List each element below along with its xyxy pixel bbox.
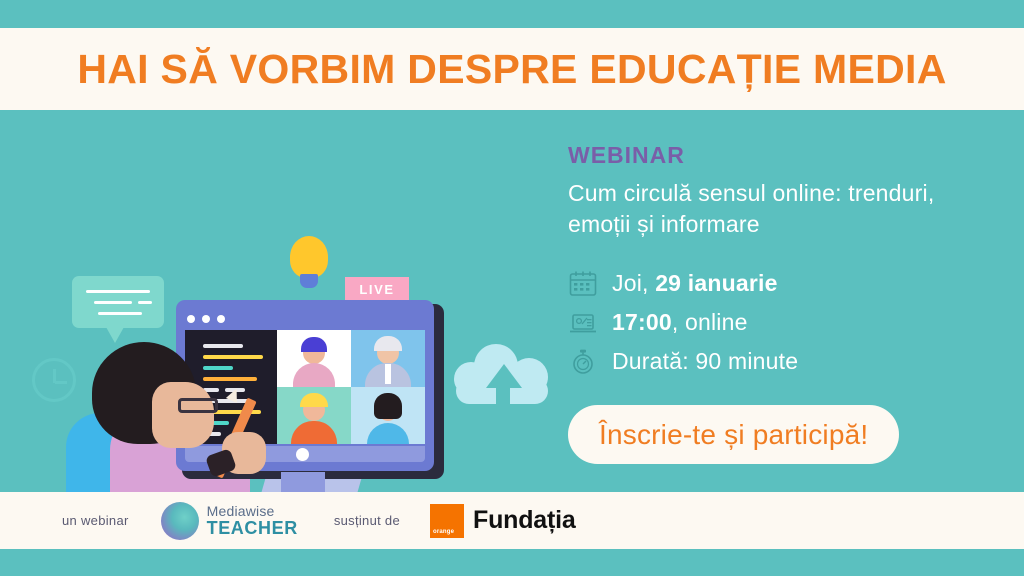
support-label: susținut de [334,513,400,528]
webinar-illustration: LIVE [0,110,560,492]
webinar-subtitle: Cum circulă sensul online: trenduri, emo… [568,178,968,239]
lightbulb-icon [288,236,330,292]
mediawise-teacher-logo: Mediawise TEACHER [161,502,298,540]
clock-icon [32,358,76,402]
register-button[interactable]: Înscrie-te și participă! [568,405,899,464]
footer-row: un webinar Mediawise TEACHER susținut de… [0,502,576,540]
main-stage: LIVE [0,110,1024,492]
participant-tile [351,387,425,444]
calendar-icon [568,269,612,299]
participant-tile [277,330,351,387]
detail-text-duration: Durată: 90 minute [612,348,798,375]
person-face [152,382,214,448]
orange-mark-label: orange [430,529,454,538]
headline-band: HAI SĂ VORBIM DESPRE EDUCAȚIE MEDIA [0,28,1024,110]
credit-label: un webinar [62,513,129,528]
mediawise-name-top: Mediawise [207,504,298,518]
participant-tile [277,387,351,444]
poster: HAI SĂ VORBIM DESPRE EDUCAȚIE MEDIA [0,0,1024,576]
webinar-details: Joi, 29 ianuarie 1 [568,266,1008,379]
detail-row-date: Joi, 29 ianuarie [568,266,1008,301]
webinar-kicker: WEBINAR [568,142,1008,169]
stopwatch-icon [568,347,612,377]
register-button-label: Înscrie-te și participă! [599,419,868,451]
fundatia-name: Fundația [473,506,576,535]
speech-bubble-icon [72,276,164,328]
glasses-icon [178,398,218,413]
webinar-info: WEBINAR Cum circulă sensul online: trend… [568,142,1008,464]
laptop-icon [568,308,612,338]
mediawise-name-bottom: TEACHER [207,519,298,537]
detail-text-time: 17:00, online [612,309,748,336]
live-badge: LIVE [345,277,409,301]
detail-row-duration: Durată: 90 minute [568,344,1008,379]
monitor-screen [185,330,425,444]
page-title: HAI SĂ VORBIM DESPRE EDUCAȚIE MEDIA [77,49,946,90]
live-badge-label: LIVE [359,282,394,297]
monitor [176,300,438,475]
orange-mark-icon: orange [430,504,464,538]
detail-text-date: Joi, 29 ianuarie [612,270,778,297]
mediawise-globe-icon [161,502,199,540]
detail-row-time: 17:00, online [568,305,1008,340]
cloud-upload-icon [452,342,552,408]
participant-tile [351,330,425,387]
fundatia-orange-logo: orange Fundația [430,504,576,538]
footer-band: un webinar Mediawise TEACHER susținut de… [0,492,1024,549]
